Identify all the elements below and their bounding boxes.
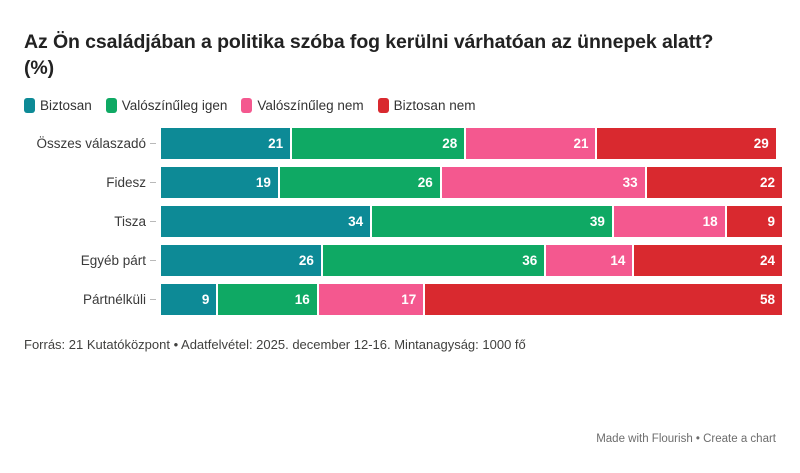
legend-item-label: Biztosan (40, 98, 92, 113)
bar-segment-value: 21 (573, 136, 588, 151)
bar-segment-value: 17 (401, 292, 416, 307)
bar-track: 3439189 (161, 206, 776, 237)
source-note: Forrás: 21 Kutatóközpont • Adatfelvétel:… (24, 337, 776, 352)
legend-swatch-icon (106, 98, 117, 113)
legend-item-label: Valószínűleg igen (122, 98, 228, 113)
bar-segment-value: 18 (703, 214, 718, 229)
axis-tick (150, 299, 156, 300)
legend-item-label: Valószínűleg nem (257, 98, 363, 113)
bar-segment-value: 16 (295, 292, 310, 307)
legend-swatch-icon (24, 98, 35, 113)
bar-segment-value: 22 (760, 175, 775, 190)
bar-track: 26361424 (161, 245, 776, 276)
bar-segment-value: 9 (202, 292, 210, 307)
chart-card: Az Ön családjában a politika szóba fog k… (0, 0, 800, 473)
bar-segment-value: 28 (442, 136, 457, 151)
chart-legend: BiztosanValószínűleg igenValószínűleg ne… (24, 98, 776, 113)
legend-item[interactable]: Biztosan nem (378, 98, 476, 113)
bar-segment-value: 36 (522, 253, 537, 268)
chart-title: Az Ön családjában a politika szóba fog k… (24, 0, 724, 82)
bar-segment[interactable]: 24 (634, 245, 782, 276)
axis-tick (150, 221, 156, 222)
bar-row: Tisza3439189 (24, 206, 776, 237)
bar-segment[interactable]: 26 (161, 245, 321, 276)
bar-row-label: Egyéb párt (24, 253, 146, 268)
bar-segment[interactable]: 36 (323, 245, 544, 276)
bar-segment[interactable]: 9 (727, 206, 782, 237)
bar-segment[interactable]: 26 (280, 167, 440, 198)
bar-segment-value: 26 (418, 175, 433, 190)
bar-row: Egyéb párt26361424 (24, 245, 776, 276)
bar-segment-value: 26 (299, 253, 314, 268)
bar-segment-value: 39 (590, 214, 605, 229)
legend-item[interactable]: Biztosan (24, 98, 92, 113)
bar-segment[interactable]: 22 (647, 167, 782, 198)
bar-segment[interactable]: 18 (614, 206, 725, 237)
bar-segment[interactable]: 33 (442, 167, 645, 198)
bar-segment[interactable]: 21 (466, 128, 595, 159)
bar-row: Pártnélküli9161758 (24, 284, 776, 315)
bar-track: 9161758 (161, 284, 776, 315)
bar-row: Összes válaszadó21282129 (24, 128, 776, 159)
bar-segment[interactable]: 39 (372, 206, 612, 237)
axis-tick (150, 143, 156, 144)
bar-segment[interactable]: 9 (161, 284, 216, 315)
bar-segment-value: 34 (348, 214, 363, 229)
bar-segment-value: 21 (268, 136, 283, 151)
bar-segment[interactable]: 58 (425, 284, 782, 315)
bar-row-label: Tisza (24, 214, 146, 229)
bar-segment[interactable]: 19 (161, 167, 278, 198)
bar-segment[interactable]: 34 (161, 206, 370, 237)
bar-segment-value: 9 (767, 214, 775, 229)
bar-segment[interactable]: 17 (319, 284, 424, 315)
bar-segment-value: 19 (256, 175, 271, 190)
axis-tick (150, 260, 156, 261)
legend-item[interactable]: Valószínűleg igen (106, 98, 228, 113)
bar-segment-value: 24 (760, 253, 775, 268)
legend-item[interactable]: Valószínűleg nem (241, 98, 363, 113)
bar-segment[interactable]: 16 (218, 284, 316, 315)
bar-segment-value: 33 (623, 175, 638, 190)
legend-swatch-icon (241, 98, 252, 113)
bar-row-label: Összes válaszadó (24, 136, 146, 151)
bar-segment-value: 58 (760, 292, 775, 307)
bar-row: Fidesz19263322 (24, 167, 776, 198)
stacked-bar-plot: Összes válaszadó21282129Fidesz19263322Ti… (24, 128, 776, 315)
axis-tick (150, 182, 156, 183)
legend-item-label: Biztosan nem (394, 98, 476, 113)
bar-track: 19263322 (161, 167, 776, 198)
bar-row-label: Pártnélküli (24, 292, 146, 307)
bar-row-label: Fidesz (24, 175, 146, 190)
bar-segment[interactable]: 28 (292, 128, 464, 159)
bar-segment[interactable]: 14 (546, 245, 632, 276)
bar-segment-value: 14 (610, 253, 625, 268)
flourish-credit[interactable]: Made with Flourish • Create a chart (596, 433, 776, 445)
legend-swatch-icon (378, 98, 389, 113)
bar-segment[interactable]: 29 (597, 128, 775, 159)
bar-segment[interactable]: 21 (161, 128, 290, 159)
bar-segment-value: 29 (754, 136, 769, 151)
bar-track: 21282129 (161, 128, 776, 159)
